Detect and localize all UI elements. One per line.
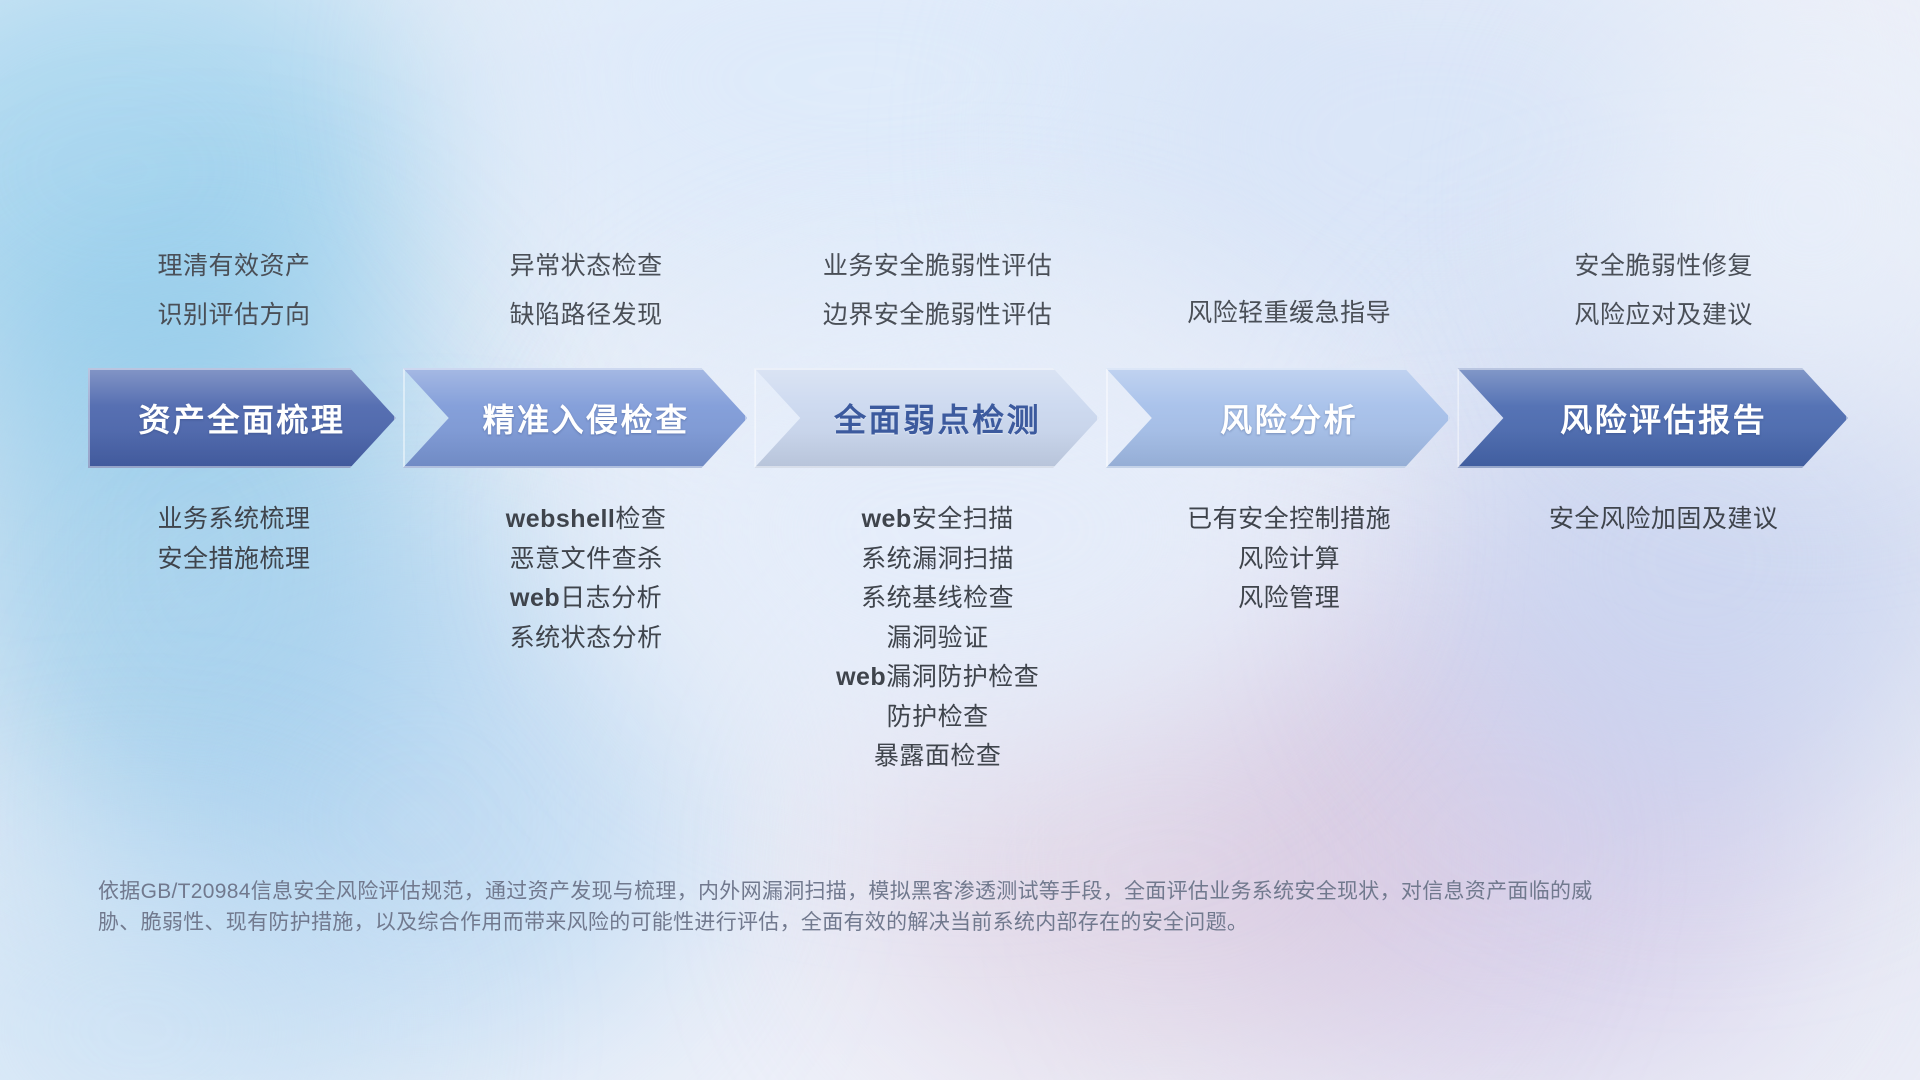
stage-arrow-1[interactable]: 资产全面梳理 bbox=[88, 368, 396, 468]
bottom-item-col-5: 安全风险加固及建议 bbox=[1364, 500, 1920, 540]
stage-arrow-4[interactable]: 风险分析 bbox=[1106, 368, 1451, 468]
bottom-item-prefix: webshell bbox=[506, 505, 616, 533]
bottom-item-text: 漏洞防护检查 bbox=[886, 663, 1039, 691]
bottom-item: 风险计算 bbox=[989, 540, 1589, 580]
stage-arrow-band: 资产全面梳理精准入侵检查全面弱点检测风险分析风险评估报告 bbox=[88, 368, 1848, 468]
top-caption-item: 安全脆弱性修复 bbox=[1364, 242, 1920, 291]
bottom-items-row: 业务系统梳理安全措施梳理webshell检查恶意文件查杀web日志分析系统状态分… bbox=[0, 500, 1920, 900]
bottom-item: 漏洞验证 bbox=[638, 619, 1238, 659]
bottom-item-prefix: web bbox=[836, 663, 886, 691]
top-caption-col-5: 安全脆弱性修复风险应对及建议 bbox=[1364, 242, 1920, 340]
bottom-item-prefix: web bbox=[510, 584, 560, 612]
stage-title-2: 精准入侵检查 bbox=[483, 395, 690, 441]
footer-description: 依据GB/T20984信息安全风险评估规范，通过资产发现与梳理，内外网漏洞扫描，… bbox=[98, 876, 1598, 938]
stage-arrow-5[interactable]: 风险评估报告 bbox=[1457, 368, 1848, 468]
stage-arrow-2[interactable]: 精准入侵检查 bbox=[403, 368, 748, 468]
stage-title-3: 全面弱点检测 bbox=[834, 395, 1041, 441]
bottom-item: 防护检查 bbox=[638, 698, 1238, 738]
bottom-item: 风险管理 bbox=[989, 579, 1589, 619]
bottom-item-prefix: web bbox=[862, 505, 912, 533]
stage-arrow-3[interactable]: 全面弱点检测 bbox=[754, 368, 1099, 468]
top-caption-item: 风险应对及建议 bbox=[1364, 291, 1920, 340]
bottom-item: web漏洞防护检查 bbox=[638, 658, 1238, 698]
process-diagram: 理清有效资产识别评估方向异常状态检查缺陷路径发现业务安全脆弱性评估边界安全脆弱性… bbox=[0, 0, 1920, 1080]
stage-title-4: 风险分析 bbox=[1220, 395, 1358, 441]
bottom-item: 暴露面检查 bbox=[638, 737, 1238, 777]
bottom-item: 安全风险加固及建议 bbox=[1364, 500, 1920, 540]
top-captions-row: 理清有效资产识别评估方向异常状态检查缺陷路径发现业务安全脆弱性评估边界安全脆弱性… bbox=[0, 230, 1920, 340]
top-caption-item: 业务安全脆弱性评估 bbox=[638, 242, 1238, 291]
stage-title-1: 资产全面梳理 bbox=[138, 395, 345, 441]
stage-title-5: 风险评估报告 bbox=[1560, 395, 1767, 441]
footer-paragraph: 依据GB/T20984信息安全风险评估规范，通过资产发现与梳理，内外网漏洞扫描，… bbox=[98, 876, 1598, 938]
